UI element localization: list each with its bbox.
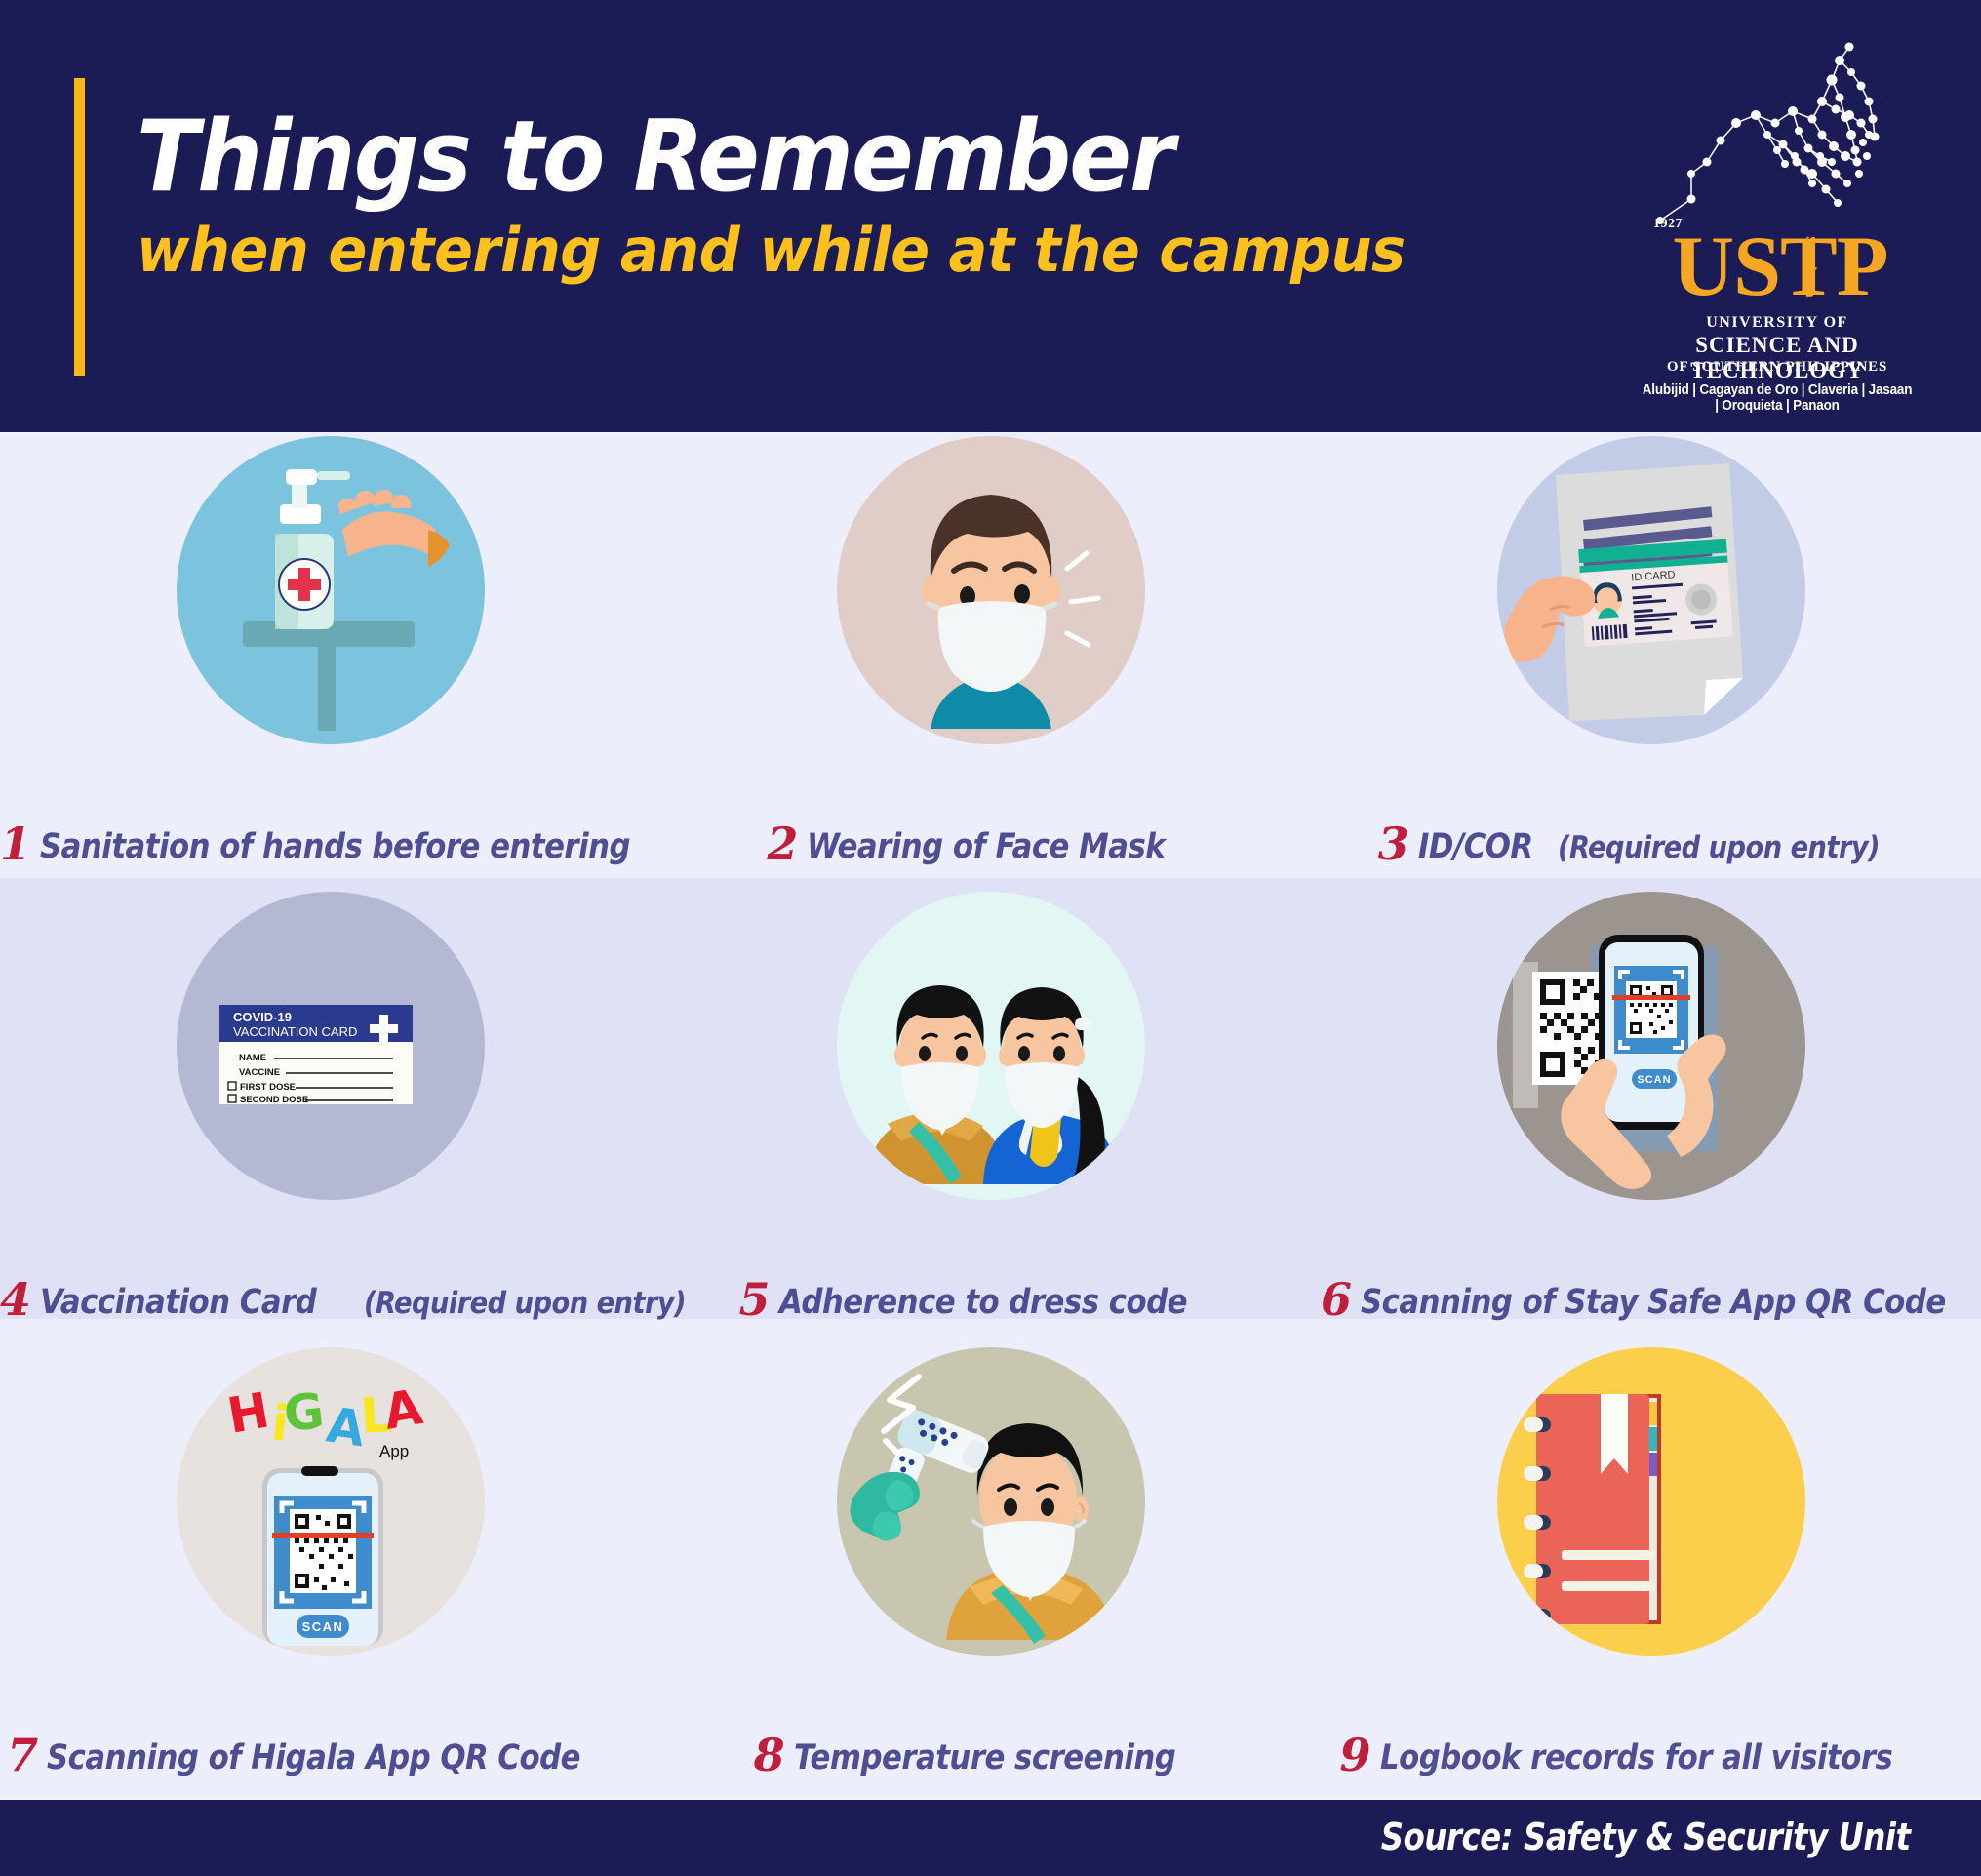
page-title: Things to Remember [137, 107, 1378, 205]
item-label: Vaccination Card [40, 1283, 316, 1322]
logo-campus-list: Alubijid | Cagayan de Oro | Claveria | J… [1642, 382, 1914, 414]
qr-scan-phone-icon: SCAN [1497, 892, 1805, 1200]
item-label: Scanning of Stay Safe App QR Code [1361, 1283, 1946, 1322]
logo-acronym: USTP [1639, 228, 1922, 305]
item-number: 5 [739, 1273, 771, 1326]
item-label: Temperature screening [794, 1738, 1175, 1777]
item-label: ID/COR [1418, 827, 1533, 866]
reminder-item-2: 2Wearing of Face Mask [660, 432, 1321, 888]
ustp-logo: 1927 USTP Southern UNIVERSITY OF SCIENCE… [1631, 25, 1923, 406]
header-banner: Things to Remember when entering and whi… [0, 0, 1981, 432]
item-note: (Required upon entry) [1558, 830, 1880, 865]
hand-sanitizer-icon [177, 436, 485, 744]
svg-text:App: App [379, 1442, 409, 1460]
reminder-item-7: H i G A L A App [0, 1343, 660, 1799]
item-label: Logbook records for all visitors [1380, 1738, 1892, 1777]
item-label: Adherence to dress code [779, 1283, 1187, 1322]
item-number: 8 [754, 1729, 785, 1781]
reminder-item-8: 8Temperature screening [660, 1343, 1321, 1799]
id-card-icon: ID CARD [1497, 436, 1805, 744]
footer-bar: Source: Safety & Security Unit [0, 1800, 1981, 1876]
logo-southern-word: Southern [1802, 236, 1818, 298]
item-label: Wearing of Face Mask [807, 827, 1165, 866]
caption-8: 8Temperature screening [660, 1729, 1321, 1781]
thermometer-gun-icon [837, 1347, 1145, 1656]
item-number: 4 [0, 1273, 31, 1326]
item-number: 7 [7, 1729, 38, 1781]
svg-text:SCAN: SCAN [301, 1619, 343, 1634]
reminder-item-1: 1Sanitation of hands before entering [0, 432, 660, 888]
svg-text:SECOND DOSE: SECOND DOSE [240, 1095, 308, 1105]
ustp-dotted-map-icon [1631, 25, 1923, 245]
item-number: 6 [1321, 1273, 1352, 1326]
item-label: Scanning of Higala App QR Code [47, 1738, 580, 1777]
caption-7: 7Scanning of Higala App QR Code [0, 1729, 660, 1781]
source-credit: Source: Safety & Security Unit [1381, 1816, 1911, 1858]
title-block: Things to Remember when entering and whi… [137, 107, 1472, 282]
face-mask-man-icon [837, 436, 1145, 744]
caption-4: 4Vaccination Card(Required upon entry) [0, 1273, 660, 1326]
reminder-item-6: SCAN 6Scanning of Stay Safe App QR Code [1321, 888, 1981, 1343]
higala-app-icon: H i G A L A App [177, 1347, 485, 1656]
title-accent-bar [74, 78, 85, 376]
logo-line-3: OF SOUTHERN PHILIPPINES [1631, 359, 1923, 376]
item-number: 1 [0, 818, 31, 870]
logo-line-1: UNIVERSITY OF [1631, 314, 1923, 332]
item-number: 2 [767, 818, 798, 870]
svg-text:VACCINATION CARD: VACCINATION CARD [233, 1024, 357, 1039]
svg-text:G: G [281, 1382, 327, 1443]
students-uniform-icon [837, 892, 1145, 1200]
svg-text:SCAN: SCAN [1637, 1074, 1671, 1086]
logo-line-2: SCIENCE AND TECHNOLOGY [1631, 333, 1923, 383]
logbook-icon [1497, 1347, 1805, 1656]
svg-text:H: H [223, 1381, 273, 1444]
svg-text:VACCINE: VACCINE [239, 1067, 280, 1078]
page-subtitle: when entering and while at the campus [137, 219, 1406, 282]
item-note: (Required upon entry) [364, 1286, 686, 1321]
reminder-item-5: 5Adherence to dress code [660, 888, 1321, 1343]
caption-3: 3ID/COR(Required upon entry) [1321, 818, 1981, 870]
caption-9: 9Logbook records for all visitors [1321, 1729, 1981, 1781]
svg-text:COVID-19: COVID-19 [233, 1010, 292, 1024]
item-label: Sanitation of hands before entering [40, 827, 630, 866]
reminder-item-3: ID CARD [1321, 432, 1981, 888]
caption-2: 2Wearing of Face Mask [660, 818, 1321, 870]
vaccination-card-icon: COVID-19 VACCINATION CARD NAME VACCINE F… [177, 892, 485, 1200]
caption-1: 1Sanitation of hands before entering [0, 818, 660, 870]
caption-6: 6Scanning of Stay Safe App QR Code [1321, 1273, 1981, 1326]
reminder-item-9: 9Logbook records for all visitors [1321, 1343, 1981, 1799]
reminders-grid: 1Sanitation of hands before entering [0, 432, 1981, 1800]
item-number: 3 [1378, 818, 1409, 870]
svg-text:FIRST DOSE: FIRST DOSE [240, 1082, 296, 1093]
caption-5: 5Adherence to dress code [660, 1273, 1321, 1326]
reminder-item-4: COVID-19 VACCINATION CARD NAME VACCINE F… [0, 888, 660, 1343]
item-number: 9 [1340, 1729, 1371, 1781]
svg-text:NAME: NAME [239, 1053, 266, 1063]
